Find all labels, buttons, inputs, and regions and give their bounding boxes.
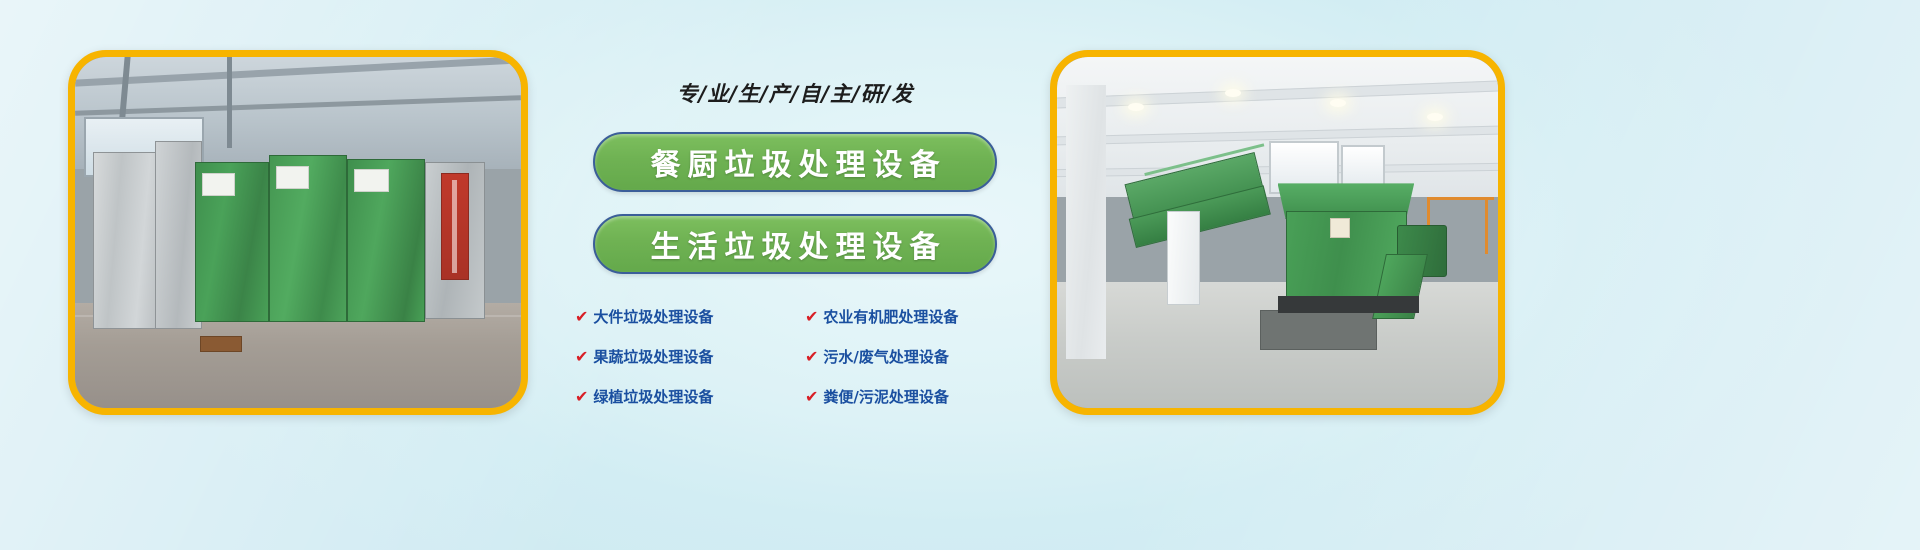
product-pill-2-label: 生活垃圾处理设备: [644, 222, 947, 266]
ceiling-column: [227, 57, 232, 148]
check-icon: ✔: [575, 309, 588, 325]
warning-plate: [1330, 218, 1350, 238]
check-icon: ✔: [575, 349, 588, 365]
check-icon: ✔: [805, 389, 818, 405]
floor-pit: [1260, 310, 1377, 351]
product-pill-1-label: 餐厨垃圾处理设备: [644, 140, 947, 184]
feature-item[interactable]: ✔ 农业有机肥处理设备: [805, 306, 1015, 327]
safety-railing: [1427, 197, 1493, 200]
left-photo-image: [75, 57, 521, 408]
ceiling-lamp: [1225, 89, 1241, 97]
wood-pallet: [200, 336, 242, 352]
feature-label: 果蔬垃圾处理设备: [593, 346, 713, 367]
feature-item[interactable]: ✔ 污水/废气处理设备: [805, 346, 1015, 367]
promo-banner: 专/业/生/产/自/主/研/发 餐厨垃圾处理设备 生活垃圾处理设备 ✔ 大件垃圾…: [0, 0, 1920, 550]
feature-label: 大件垃圾处理设备: [593, 306, 713, 327]
check-icon: ✔: [575, 389, 588, 405]
feature-item[interactable]: ✔ 大件垃圾处理设备: [575, 306, 785, 327]
feature-label: 粪便/污泥处理设备: [823, 386, 948, 407]
feature-list: ✔ 大件垃圾处理设备 ✔ 农业有机肥处理设备 ✔ 果蔬垃圾处理设备 ✔ 污水/废…: [575, 306, 1015, 407]
right-photo: [1050, 50, 1505, 415]
safety-railing-post: [1485, 197, 1488, 253]
feature-label: 绿植垃圾处理设备: [593, 386, 713, 407]
machine-label: [276, 166, 309, 189]
hall-pillar: [1066, 85, 1106, 359]
feature-item[interactable]: ✔ 粪便/污泥处理设备: [805, 386, 1015, 407]
product-pill-1[interactable]: 餐厨垃圾处理设备: [593, 132, 997, 192]
machine-base: [1278, 296, 1419, 314]
machine-label: [354, 169, 389, 192]
center-content: 专/业/生/产/自/主/研/发 餐厨垃圾处理设备 生活垃圾处理设备 ✔ 大件垃圾…: [560, 78, 1030, 408]
ceiling-lamp: [1128, 103, 1144, 111]
check-icon: ✔: [805, 309, 818, 325]
left-photo: [68, 50, 528, 415]
feature-label: 农业有机肥处理设备: [823, 306, 958, 327]
red-banner: [441, 173, 470, 280]
feature-item[interactable]: ✔ 果蔬垃圾处理设备: [575, 346, 785, 367]
product-pill-2[interactable]: 生活垃圾处理设备: [593, 214, 997, 274]
tagline: 专/业/生/产/自/主/研/发: [677, 78, 914, 108]
machine-label: [202, 173, 235, 196]
control-cabinet: [1167, 211, 1200, 304]
right-photo-image: [1057, 57, 1498, 408]
check-icon: ✔: [805, 349, 818, 365]
feature-label: 污水/废气处理设备: [823, 346, 948, 367]
feature-item[interactable]: ✔ 绿植垃圾处理设备: [575, 386, 785, 407]
